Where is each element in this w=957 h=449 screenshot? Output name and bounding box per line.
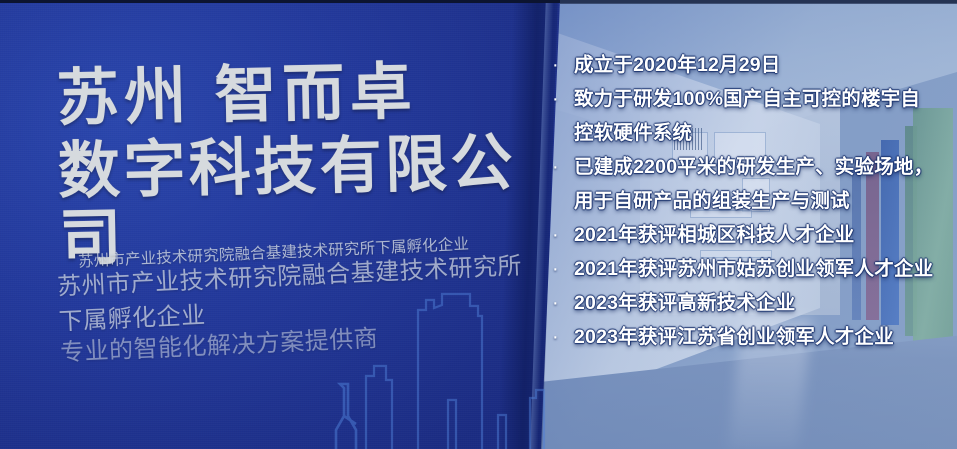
list-item-label: 2023年获评江苏省创业领军人才企业	[574, 322, 894, 352]
list-item-label: 成立于2020年12月29日	[574, 50, 781, 80]
bullet-dot-icon: ·	[548, 322, 574, 352]
list-item-continuation: 控软硬件系统	[548, 118, 948, 148]
list-item-label: 用于自研产品的组装生产与测试	[574, 186, 850, 216]
top-edge-band-right	[560, 0, 957, 4]
bullet-dot-icon: ·	[548, 50, 574, 80]
bullet-dot-icon: ·	[548, 152, 574, 182]
bullet-dot-icon: ·	[548, 288, 574, 318]
bullet-dot-icon: ·	[548, 84, 574, 114]
list-item-continuation: 用于自研产品的组装生产与测试	[548, 186, 948, 216]
company-facts-list: · 成立于2020年12月29日 · 致力于研发100%国产自主可控的楼宇自 控…	[548, 50, 948, 356]
list-item: · 成立于2020年12月29日	[548, 50, 948, 80]
list-item: · 已建成2200平米的研发生产、实验场地，	[548, 152, 948, 182]
company-name-line-1: 苏州 智而卓	[56, 58, 527, 134]
list-item-label: 2021年获评苏州市姑苏创业领军人才企业	[574, 254, 933, 284]
list-item: · 2023年获评江苏省创业领军人才企业	[548, 322, 948, 352]
list-item-label: 2023年获评高新技术企业	[574, 288, 795, 318]
list-item-label: 控软硬件系统	[574, 118, 692, 148]
list-item-label: 已建成2200平米的研发生产、实验场地，	[574, 152, 933, 182]
presentation-slide: 苏州 智而卓 数字科技有限公司 苏州市产业技术研究院融合基建技术研究所下属孵化企…	[0, 0, 957, 449]
list-item: · 致力于研发100%国产自主可控的楼宇自	[548, 84, 948, 114]
list-item: · 2023年获评高新技术企业	[548, 288, 948, 318]
list-item: · 2021年获评相城区科技人才企业	[548, 220, 948, 250]
company-taglines: 苏州市产业技术研究院融合基建技术研究所下属孵化企业 苏州市产业技术研究院融合基建…	[56, 229, 531, 367]
list-item-label: 2021年获评相城区科技人才企业	[574, 220, 855, 250]
bullet-dot-icon: ·	[548, 220, 574, 250]
bullet-dot-icon: ·	[548, 254, 574, 284]
list-item-label: 致力于研发100%国产自主可控的楼宇自	[574, 84, 920, 114]
list-item: · 2021年获评苏州市姑苏创业领军人才企业	[548, 254, 948, 284]
